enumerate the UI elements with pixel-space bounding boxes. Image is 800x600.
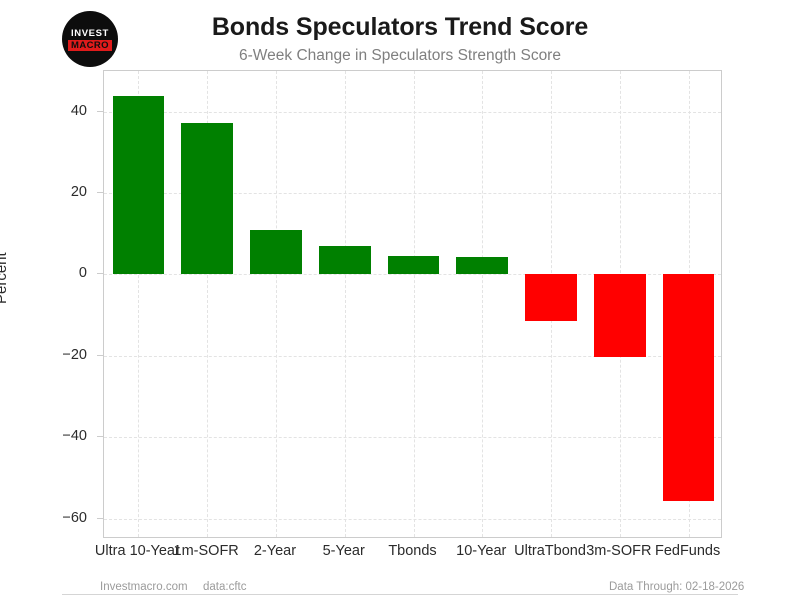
- x-axis-tick-label: UltraTbond: [514, 543, 586, 559]
- chart-bar: [181, 123, 233, 274]
- y-axis-tick-mark: [97, 355, 103, 356]
- chart-bar: [388, 256, 440, 275]
- gridline-vertical: [345, 71, 346, 537]
- x-axis-tick-label: 1m-SOFR: [174, 543, 239, 559]
- y-axis-tick-mark: [97, 518, 103, 519]
- y-axis-tick-mark: [97, 273, 103, 274]
- y-axis-tick-mark: [97, 192, 103, 193]
- y-axis-tick-label: 40: [27, 103, 87, 119]
- y-axis-tick-mark: [97, 111, 103, 112]
- gridline-vertical: [414, 71, 415, 537]
- y-axis-tick-label: 20: [27, 184, 87, 200]
- y-axis-tick-mark: [97, 436, 103, 437]
- chart-bar: [594, 274, 646, 357]
- plot-area: [103, 70, 722, 538]
- x-axis-tick-label: 3m-SOFR: [586, 543, 651, 559]
- gridline-horizontal: [104, 437, 721, 438]
- chart-subtitle: 6-Week Change in Speculators Strength Sc…: [0, 47, 800, 65]
- chart-title: Bonds Speculators Trend Score: [0, 13, 800, 42]
- gridline-horizontal: [104, 519, 721, 520]
- x-axis-tick-label: Tbonds: [388, 543, 436, 559]
- footer-data-through: Data Through: 02-18-2026: [609, 581, 744, 593]
- chart-bar: [319, 246, 371, 274]
- x-axis-tick-label: FedFunds: [655, 543, 720, 559]
- x-axis-tick-label: 10-Year: [456, 543, 506, 559]
- x-axis-tick-label: Ultra 10-Year: [95, 543, 180, 559]
- footer-site: Investmacro.com: [100, 581, 188, 593]
- y-axis-label: Percent: [0, 252, 10, 304]
- chart-bar: [525, 274, 577, 320]
- chart-figure: INVEST MACRO Bonds Speculators Trend Sco…: [0, 0, 800, 600]
- chart-bar: [663, 274, 715, 501]
- y-axis-tick-label: −40: [27, 428, 87, 444]
- y-axis-tick-label: −60: [27, 510, 87, 526]
- chart-bar: [456, 257, 508, 274]
- x-axis-tick-label: 2-Year: [254, 543, 296, 559]
- gridline-vertical: [482, 71, 483, 537]
- plot-inner: [104, 71, 721, 537]
- gridline-horizontal: [104, 112, 721, 113]
- chart-bar: [113, 96, 165, 274]
- footer-divider: [62, 594, 738, 595]
- y-axis-tick-label: −20: [27, 347, 87, 363]
- chart-bar: [250, 230, 302, 275]
- gridline-vertical: [276, 71, 277, 537]
- y-axis-tick-label: 0: [27, 265, 87, 281]
- x-axis-tick-label: 5-Year: [323, 543, 365, 559]
- footer-source: data:cftc: [203, 581, 246, 593]
